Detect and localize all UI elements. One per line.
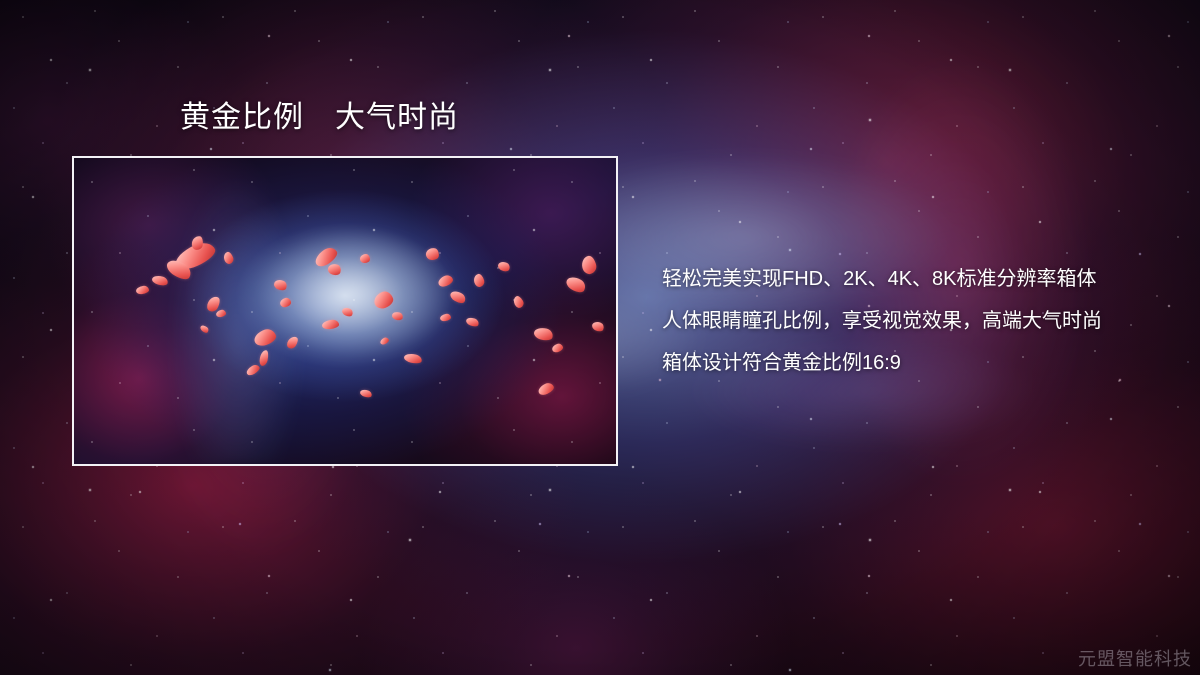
slide-title: 黄金比例 大气时尚 [180, 99, 459, 137]
preview-image [74, 158, 616, 464]
feature-line: 轻松完美实现FHD、2K、4K、8K标准分辨率箱体 [662, 258, 1182, 300]
rose-petal [360, 254, 370, 263]
presentation-slide: 黄金比例 大气时尚 轻松完美实现FHD、2K、4K、8K标准分辨率箱体人体眼睛瞳… [0, 0, 1200, 675]
company-watermark: 元盟智能科技 [1078, 645, 1192, 671]
feature-line: 箱体设计符合黄金比例16:9 [662, 342, 1182, 384]
feature-description-block: 轻松完美实现FHD、2K、4K、8K标准分辨率箱体人体眼睛瞳孔比例，享受视觉效果… [662, 258, 1182, 384]
feature-line: 人体眼睛瞳孔比例，享受视觉效果，高端大气时尚 [662, 300, 1182, 342]
preview-image-frame [72, 156, 618, 466]
